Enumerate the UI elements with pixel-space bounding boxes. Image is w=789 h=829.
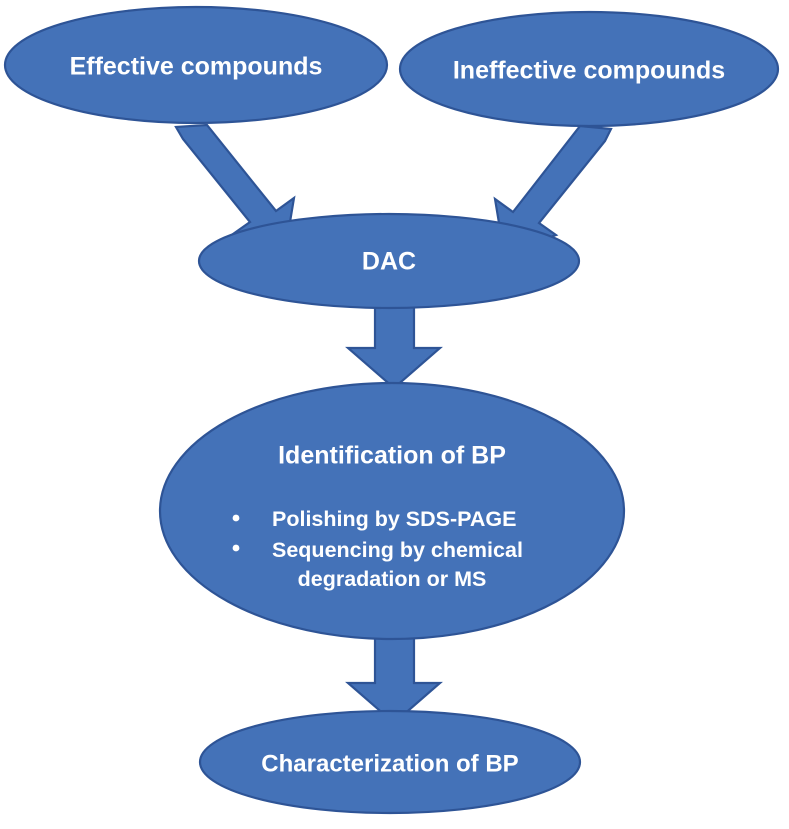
node-identification-of-bp[interactable]: Identification of BP Polishing by SDS-PA… xyxy=(160,383,624,639)
bullet-item-1: Polishing by SDS-PAGE xyxy=(233,507,517,531)
ineffective-compounds-label: Ineffective compounds xyxy=(453,57,725,85)
dac-label: DAC xyxy=(362,248,416,276)
bullet-dot-icon xyxy=(233,545,240,552)
effective-compounds-label: Effective compounds xyxy=(70,53,323,81)
flowchart-diagram: Effective compounds Ineffective compound… xyxy=(0,0,789,829)
bullet-item-2-line-2: degradation or MS xyxy=(298,567,487,591)
node-characterization-of-bp[interactable]: Characterization of BP xyxy=(200,711,580,813)
node-dac[interactable]: DAC xyxy=(199,214,579,308)
node-effective-compounds[interactable]: Effective compounds xyxy=(5,7,387,123)
flowchart-canvas: Effective compounds Ineffective compound… xyxy=(0,0,789,829)
bullet-dot-icon xyxy=(233,515,240,522)
bullet-item-1-line-1: Polishing by SDS-PAGE xyxy=(272,507,517,531)
bullet-item-2-line-1: Sequencing by chemical xyxy=(272,538,523,562)
characterization-of-bp-label: Characterization of BP xyxy=(261,750,518,777)
arrow-dac-to-identification xyxy=(348,300,440,388)
node-ineffective-compounds[interactable]: Ineffective compounds xyxy=(400,12,778,126)
identification-of-bp-label: Identification of BP xyxy=(278,442,506,470)
